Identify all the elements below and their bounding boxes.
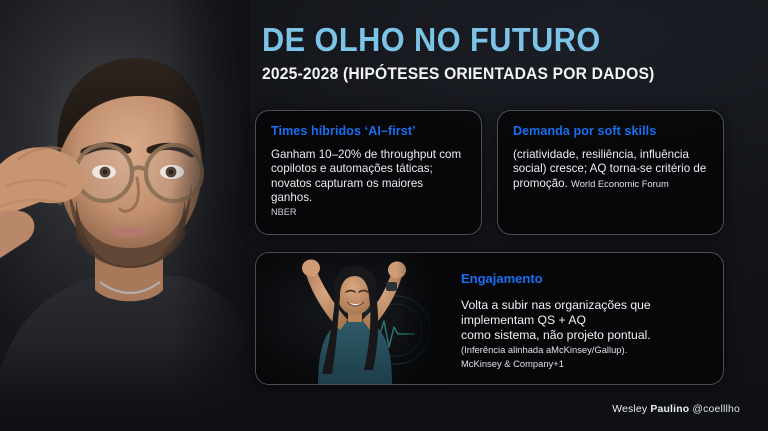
card-soft-skills[interactable]: Demanda por soft skills (criatividade, r… [497,110,724,235]
author-credit: Wesley Paulino @coelllho [612,404,740,415]
author-first-name: Wesley [612,404,650,415]
card-engajamento[interactable]: Engajamento Volta a subir nas organizaçõ… [255,252,724,385]
slide-canvas: DE OLHO NO FUTURO 2025-2028 (HIPÓTESES O… [0,0,768,431]
author-last-name: Paulino [650,404,689,415]
author-handle: @coelllho [689,404,740,415]
card-times-hibridos[interactable]: Times híbridos ‘AI–first’ Ganham 10–20% … [255,110,482,235]
card-body-line-2: implementam QS + AQ [461,313,709,328]
card-body-line-1: Volta a subir nas organizações que [461,298,709,313]
card-note: (Inferência alinhada aMcKinsey/Gallup). [461,344,709,357]
engagement-photo [256,253,452,384]
card-content: Engajamento Volta a subir nas organizaçõ… [461,253,723,384]
header: DE OLHO NO FUTURO 2025-2028 (HIPÓTESES O… [262,22,752,84]
card-source: World Economic Forum [571,178,669,189]
card-source: NBER [271,206,466,218]
card-body-line-3: como sistema, não projeto pontual. [461,328,709,343]
card-content: Times híbridos ‘AI–first’ Ganham 10–20% … [256,111,481,228]
portrait-edge-fade [170,0,250,431]
photo-edge-fade [397,253,452,384]
card-heading: Engajamento [461,271,709,286]
page-title: DE OLHO NO FUTURO [262,22,718,58]
card-heading: Times híbridos ‘AI–first’ [271,124,466,139]
card-content: Demanda por soft skills (criatividade, r… [498,111,723,201]
portrait-photo [0,0,250,431]
page-subtitle: 2025-2028 (HIPÓTESES ORIENTADAS POR DADO… [262,64,713,84]
card-heading: Demanda por soft skills [513,124,708,139]
card-body: (criatividade, resiliência, influência s… [513,148,708,191]
card-body: Ganham 10–20% de throughput com copiloto… [271,148,466,206]
card-source: McKinsey & Company+1 [461,358,709,371]
